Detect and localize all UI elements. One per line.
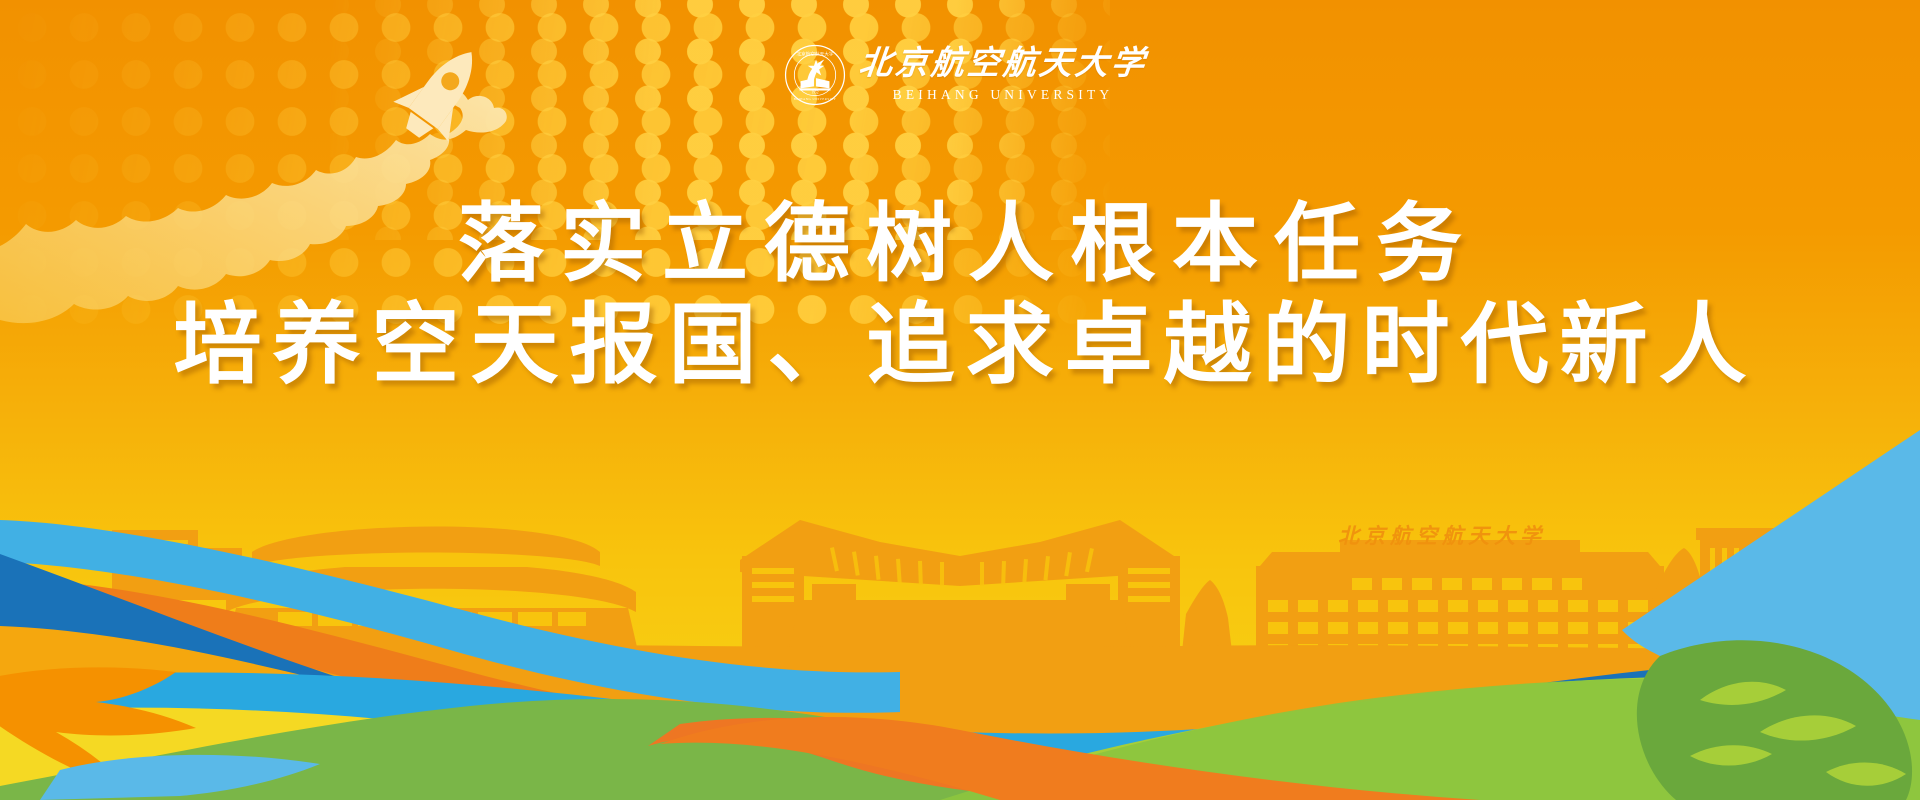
svg-text:BEIHANG UNIVERSITY: BEIHANG UNIVERSITY bbox=[794, 97, 837, 101]
svg-text:北京航空航天大学: 北京航空航天大学 bbox=[796, 50, 833, 57]
monstera-leaf-icon bbox=[1637, 620, 1920, 800]
ribbon-gold-main bbox=[0, 626, 1920, 800]
main-building-name-label: 北京航空航天大学 bbox=[1338, 520, 1546, 550]
campus-skyline-icon bbox=[0, 520, 1920, 800]
leaf-cluster-left bbox=[0, 667, 396, 800]
headline-block: 落实立德树人根本任务 培养空天报国、追求卓越的时代新人 bbox=[0, 196, 1920, 395]
headline-line-1: 落实立德树人根本任务 bbox=[0, 196, 1920, 292]
campus-landscape-illustration bbox=[0, 0, 1920, 800]
ribbon-orange bbox=[0, 578, 900, 773]
ribbon-lightblue-top bbox=[0, 520, 900, 713]
wedge-blue-left bbox=[0, 554, 470, 744]
university-name-en: BEIHANG UNIVERSITY bbox=[893, 88, 1114, 102]
beihang-seal-icon: 北京航空航天大学 BEIHANG UNIVERSITY 1952 bbox=[784, 44, 846, 106]
wedge-blue-right bbox=[1430, 652, 1920, 702]
hill-green-main bbox=[0, 699, 1340, 800]
hill-green-right bbox=[940, 678, 1920, 800]
university-logo-block: 北京航空航天大学 BEIHANG UNIVERSITY 1952 北京航空航天大… bbox=[784, 44, 1147, 106]
beihang-banner: 北京航空航天大学 北京航空航天大学 BEIHANG UNIVERSITY 195… bbox=[0, 0, 1920, 800]
svg-text:1952: 1952 bbox=[811, 91, 818, 95]
path-orange-curve bbox=[648, 718, 1420, 800]
ribbon-lightblue-wave bbox=[0, 662, 1920, 778]
hill-green-light-right bbox=[980, 675, 1920, 800]
wedge-lightblue-corner bbox=[1622, 430, 1920, 720]
headline-line-2: 培养空天报国、追求卓越的时代新人 bbox=[0, 296, 1920, 395]
rocket-icon bbox=[385, 32, 499, 153]
wave-yellow bbox=[0, 708, 560, 800]
university-name-cn: 北京航空航天大学 bbox=[857, 48, 1148, 81]
path-orange-curve2 bbox=[660, 717, 1480, 800]
